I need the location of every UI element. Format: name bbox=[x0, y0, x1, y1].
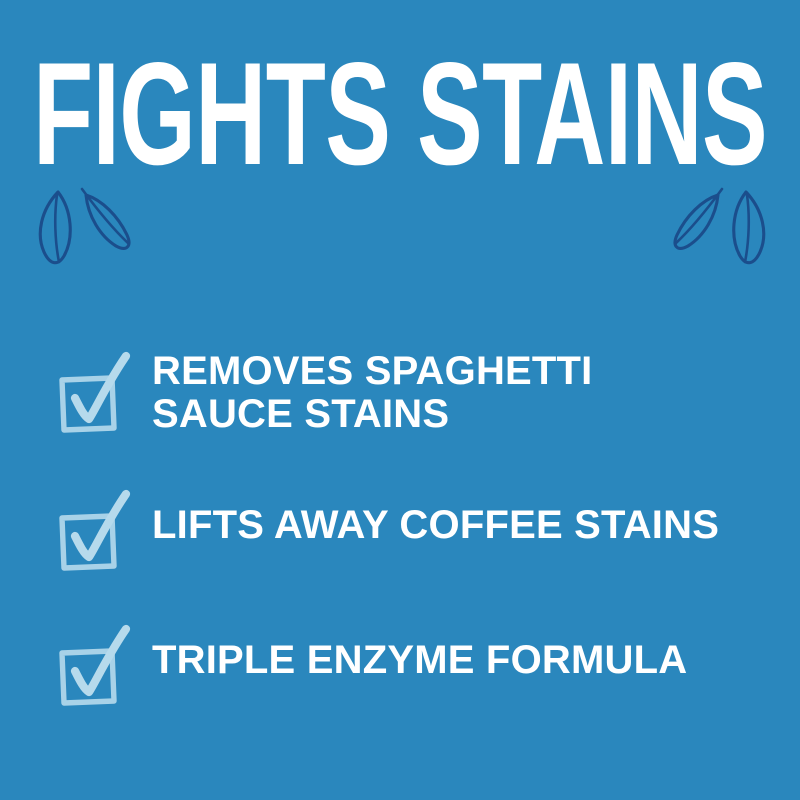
checklist-item[interactable]: LIFTS AWAY COFFEE STAINS bbox=[0, 482, 800, 574]
leaf-cluster-left bbox=[24, 186, 144, 272]
checkbox-checked-icon[interactable] bbox=[50, 352, 136, 432]
checklist-item[interactable]: TRIPLE ENZYME FORMULA bbox=[0, 617, 800, 709]
leaf-cluster-right-svg bbox=[660, 186, 780, 272]
checklist-item-label: TRIPLE ENZYME FORMULA bbox=[152, 639, 800, 682]
leaf-icon bbox=[734, 192, 764, 263]
checkbox-checked-svg bbox=[50, 352, 136, 432]
product-claims-poster: FIGHTS STAINS bbox=[0, 0, 800, 800]
checkbox-checked-svg bbox=[50, 625, 136, 705]
leaf-icon bbox=[40, 192, 70, 263]
headline-banner: FIGHTS STAINS bbox=[0, 46, 800, 176]
checklist-item-label: REMOVES SPAGHETTI SAUCE STAINS bbox=[152, 350, 800, 436]
checklist-item[interactable]: REMOVES SPAGHETTI SAUCE STAINS bbox=[0, 344, 800, 436]
checkbox-checked-icon[interactable] bbox=[50, 490, 136, 570]
leaf-icon bbox=[82, 189, 129, 248]
checklist-item-label: LIFTS AWAY COFFEE STAINS bbox=[152, 504, 800, 547]
checkbox-checked-svg bbox=[50, 490, 136, 570]
leaf-cluster-left-svg bbox=[24, 186, 144, 272]
headline-text: FIGHTS STAINS bbox=[33, 46, 767, 176]
checkbox-checked-icon[interactable] bbox=[50, 625, 136, 705]
leaf-icon bbox=[675, 189, 722, 248]
headline-svg: FIGHTS STAINS bbox=[0, 46, 800, 176]
leaf-cluster-right bbox=[660, 186, 780, 272]
